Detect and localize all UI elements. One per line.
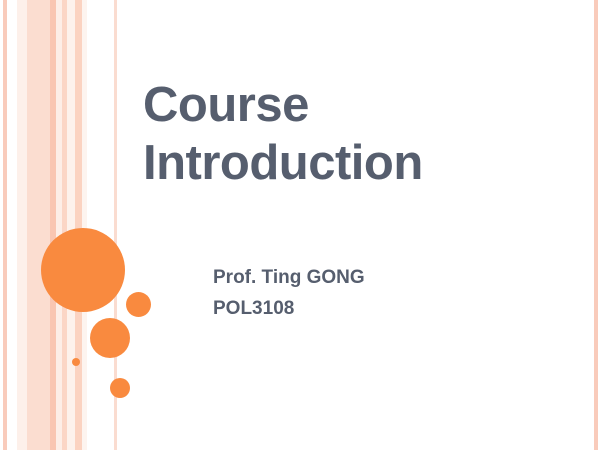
presenter-name: Prof. Ting GONG [213, 262, 573, 293]
circle-small-bottom [110, 378, 130, 398]
stripe-edge-right [594, 0, 598, 450]
subtitle-block: Prof. Ting GONG POL3108 [213, 262, 573, 324]
stripe-peach-1 [27, 0, 50, 450]
stripe-pale-4 [82, 0, 87, 450]
circle-tiny-left [72, 358, 80, 366]
stripe-peach-2 [50, 0, 56, 450]
page-title: Course Introduction [143, 76, 573, 192]
title-block: Course Introduction [143, 76, 573, 192]
stripe-pale-2 [56, 0, 62, 450]
stripe-pale-1 [17, 0, 27, 450]
circle-medium [90, 318, 130, 358]
stripe-edge-left [3, 0, 7, 450]
circle-small-upper-right [126, 292, 151, 317]
stripe-peach-4 [75, 0, 82, 450]
stripe-pale-3 [67, 0, 75, 450]
presentation-slide: Course Introduction Prof. Ting GONG POL3… [0, 0, 600, 450]
circle-large [41, 228, 125, 312]
stripe-thin-right [114, 0, 117, 450]
course-code: POL3108 [213, 293, 573, 324]
stripe-peach-3 [62, 0, 67, 450]
